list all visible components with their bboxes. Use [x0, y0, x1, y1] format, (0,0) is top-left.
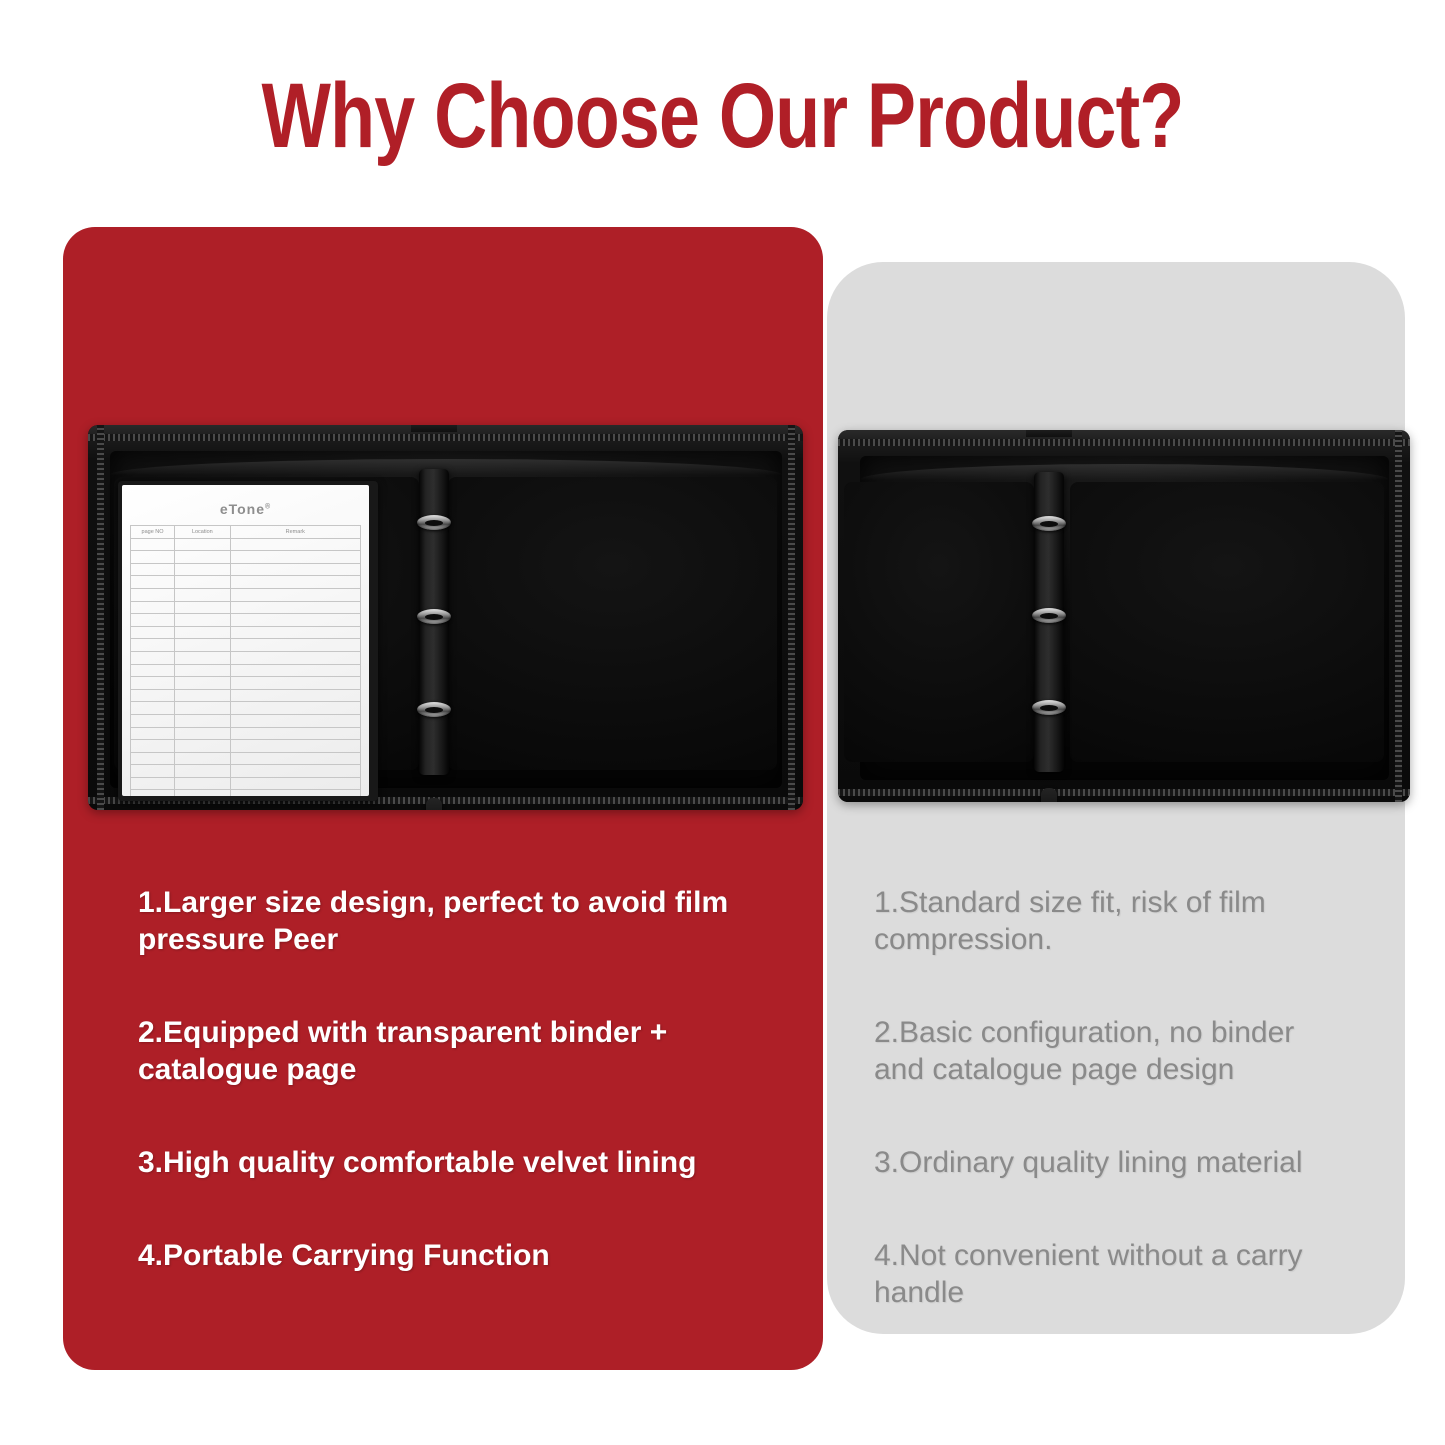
catalogue-page-sleeve: eTone® page NO Location Remark	[118, 481, 378, 801]
table-cell	[175, 790, 230, 796]
binder-ring-bottom	[1032, 700, 1066, 715]
table-cell	[175, 714, 230, 727]
table-cell	[175, 702, 230, 715]
zipper-track-bottom	[838, 789, 1410, 796]
table-row	[131, 752, 361, 765]
table-row	[131, 639, 361, 652]
table-cell	[230, 626, 360, 639]
table-cell	[175, 777, 230, 790]
list-item: 1.Larger size design, perfect to avoid f…	[138, 884, 738, 958]
table-cell	[230, 765, 360, 778]
list-item: 4.Not convenient without a carry handle	[874, 1237, 1344, 1311]
table-cell	[131, 626, 175, 639]
zipper-track-right	[1395, 430, 1402, 802]
zipper-track-right	[788, 425, 795, 810]
list-item: 3.Ordinary quality lining material	[874, 1144, 1344, 1181]
zipper-track-top	[838, 439, 1410, 446]
binder-ring-middle	[1032, 608, 1066, 623]
table-cell	[131, 714, 175, 727]
table-row	[131, 614, 361, 627]
carry-handle-tab	[1026, 430, 1072, 437]
table-row	[131, 563, 361, 576]
table-cell	[230, 639, 360, 652]
zipper-track-top	[88, 434, 803, 441]
table-cell	[230, 702, 360, 715]
zipper-pull	[426, 798, 442, 810]
list-item: 3.High quality comfortable velvet lining	[138, 1144, 738, 1181]
table-cell	[131, 551, 175, 564]
table-cell	[175, 576, 230, 589]
table-cell	[230, 790, 360, 796]
velvet-panel-right	[1070, 482, 1384, 762]
table-cell	[175, 639, 230, 652]
table-cell	[131, 752, 175, 765]
table-row	[131, 765, 361, 778]
table-cell	[131, 727, 175, 740]
table-cell	[175, 752, 230, 765]
trademark-symbol: ®	[265, 503, 271, 510]
table-row	[131, 601, 361, 614]
velvet-panel-right	[448, 477, 777, 770]
column-header-page-no: page NO	[131, 526, 175, 539]
table-cell	[131, 765, 175, 778]
etone-logo: eTone®	[122, 501, 369, 517]
table-cell	[230, 727, 360, 740]
table-row	[131, 740, 361, 753]
binder-ring-top	[1032, 516, 1066, 531]
table-cell	[175, 626, 230, 639]
table-row	[131, 588, 361, 601]
catalogue-table-header-row: page NO Location Remark	[131, 526, 361, 539]
table-cell	[131, 601, 175, 614]
table-cell	[230, 677, 360, 690]
table-cell	[175, 740, 230, 753]
table-cell	[131, 677, 175, 690]
table-cell	[131, 639, 175, 652]
ring-binder-spine	[419, 469, 449, 775]
table-cell	[230, 651, 360, 664]
catalogue-page: eTone® page NO Location Remark	[122, 485, 369, 796]
zipper-pull	[1041, 788, 1057, 802]
table-row	[131, 777, 361, 790]
table-cell	[230, 752, 360, 765]
table-cell	[131, 790, 175, 796]
table-cell	[230, 538, 360, 551]
catalogue-table-body	[131, 538, 361, 796]
table-row	[131, 576, 361, 589]
table-cell	[175, 601, 230, 614]
column-header-remark: Remark	[230, 526, 360, 539]
binder-ring-bottom	[417, 702, 451, 717]
table-cell	[230, 664, 360, 677]
table-cell	[131, 588, 175, 601]
table-cell	[175, 765, 230, 778]
table-cell	[230, 563, 360, 576]
table-row	[131, 714, 361, 727]
table-cell	[175, 651, 230, 664]
column-header-location: Location	[175, 526, 230, 539]
table-row	[131, 677, 361, 690]
page-title: Why Choose Our Product?	[145, 64, 1301, 168]
table-row	[131, 664, 361, 677]
binder-ring-middle	[417, 609, 451, 624]
others-feature-list: 1.Standard size fit, risk of film compre…	[874, 884, 1344, 1367]
ours-product-photo: eTone® page NO Location Remark	[88, 425, 803, 810]
table-cell	[131, 664, 175, 677]
table-cell	[175, 588, 230, 601]
catalogue-table: page NO Location Remark	[130, 525, 361, 796]
table-row	[131, 651, 361, 664]
binder-ring-top	[417, 515, 451, 530]
table-row	[131, 551, 361, 564]
table-cell	[175, 664, 230, 677]
table-cell	[131, 702, 175, 715]
list-item: 2.Basic configuration, no binder and cat…	[874, 1014, 1344, 1088]
table-row	[131, 727, 361, 740]
table-cell	[131, 563, 175, 576]
table-cell	[131, 740, 175, 753]
table-cell	[230, 601, 360, 614]
carry-handle-tab	[411, 425, 457, 432]
table-cell	[230, 588, 360, 601]
table-row	[131, 790, 361, 796]
table-row	[131, 538, 361, 551]
ours-feature-list: 1.Larger size design, perfect to avoid f…	[138, 884, 738, 1330]
table-cell	[175, 727, 230, 740]
list-item: 1.Standard size fit, risk of film compre…	[874, 884, 1344, 958]
zipper-track-left	[97, 425, 104, 810]
velvet-panel-left	[844, 482, 1034, 762]
table-cell	[131, 614, 175, 627]
table-cell	[131, 651, 175, 664]
table-cell	[131, 576, 175, 589]
table-cell	[230, 740, 360, 753]
table-row	[131, 626, 361, 639]
table-cell	[175, 563, 230, 576]
table-cell	[230, 689, 360, 702]
table-cell	[175, 538, 230, 551]
table-cell	[131, 777, 175, 790]
list-item: 4.Portable Carrying Function	[138, 1237, 738, 1274]
table-cell	[175, 614, 230, 627]
table-cell	[230, 714, 360, 727]
table-row	[131, 702, 361, 715]
table-cell	[230, 551, 360, 564]
table-cell	[230, 614, 360, 627]
table-row	[131, 689, 361, 702]
ring-binder-spine	[1034, 472, 1064, 772]
table-cell	[230, 576, 360, 589]
comparison-infographic: Why Choose Our Product? Ours Others eTon…	[0, 0, 1445, 1445]
table-cell	[175, 677, 230, 690]
table-cell	[230, 777, 360, 790]
table-cell	[175, 689, 230, 702]
list-item: 2.Equipped with transparent binder + cat…	[138, 1014, 738, 1088]
etone-logo-text: eTone	[220, 501, 265, 517]
table-cell	[131, 689, 175, 702]
table-cell	[131, 538, 175, 551]
others-product-photo	[838, 430, 1410, 802]
table-cell	[175, 551, 230, 564]
